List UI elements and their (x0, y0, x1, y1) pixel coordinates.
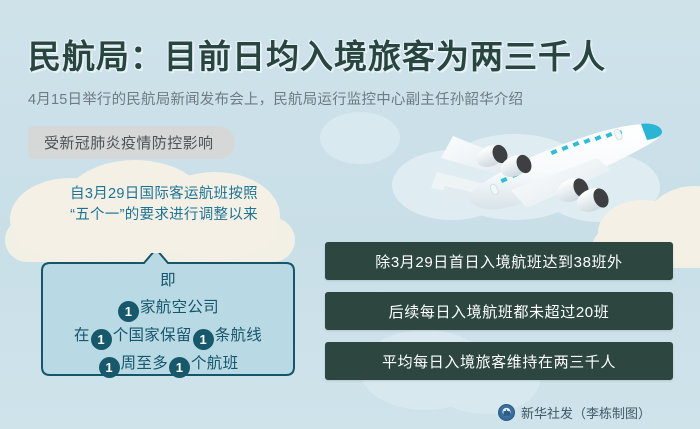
count-badge: 1 (169, 357, 190, 378)
bubble-title: 即 (42, 267, 294, 294)
infographic-canvas: 民航局：目前日均入境旅客为两三千人 4月15日举行的民航局新闻发布会上，民航局运… (0, 0, 700, 429)
bubble-line-4-post: 个航班 (191, 355, 238, 372)
bubble-line-2-text: 家航空公司 (140, 299, 219, 316)
quote-line-1: 自3月29日国际客运航班按照 (34, 184, 294, 205)
quote-block: 自3月29日国际客运航班按照 “五个一”的要求进行调整以来 (34, 184, 294, 226)
statement-bar: 除3月29日首日入境航班达到38班外 (325, 242, 673, 280)
credit-line: 新华社发（李栋制图） (498, 403, 651, 422)
statement-bar: 后续每日入境航班都未超过20班 (325, 292, 673, 330)
page-title: 民航局：目前日均入境旅客为两三千人 (28, 30, 606, 78)
bubble-line-4: 1周至多1个航班 (42, 350, 294, 378)
count-badge: 1 (91, 329, 112, 350)
bubble-line-3-post: 条航线 (215, 327, 262, 344)
quote-line-2: “五个一”的要求进行调整以来 (34, 205, 294, 226)
detail-speech-bubble: 即 1家航空公司 在1个国家保留1条航线 1周至多1个航班 (32, 253, 304, 385)
statement-bar: 平均每日入境旅客维持在两三千人 (325, 342, 673, 380)
bubble-line-4-mid: 周至多 (121, 355, 168, 372)
bubble-line-3: 在1个国家保留1条航线 (42, 322, 294, 350)
xinhua-logo-icon (498, 404, 515, 421)
subtitle: 4月15日举行的民航局新闻发布会上，民航局运行监控中心副主任孙韶华介绍 (28, 88, 523, 109)
bubble-line-2: 1家航空公司 (42, 294, 294, 322)
bubble-line-3-pre: 在 (74, 327, 90, 344)
cloud-icon (320, 112, 400, 164)
airplane-icon (415, 104, 685, 224)
context-pill: 受新冠肺炎疫情防控影响 (28, 126, 235, 159)
statement-bar-list: 除3月29日首日入境航班达到38班外 后续每日入境航班都未超过20班 平均每日入… (325, 242, 673, 392)
count-badge: 1 (118, 301, 139, 322)
bubble-line-3-mid: 个国家保留 (113, 327, 192, 344)
count-badge: 1 (193, 329, 214, 350)
count-badge: 1 (99, 357, 120, 378)
credit-text: 新华社发（李栋制图） (521, 403, 651, 422)
